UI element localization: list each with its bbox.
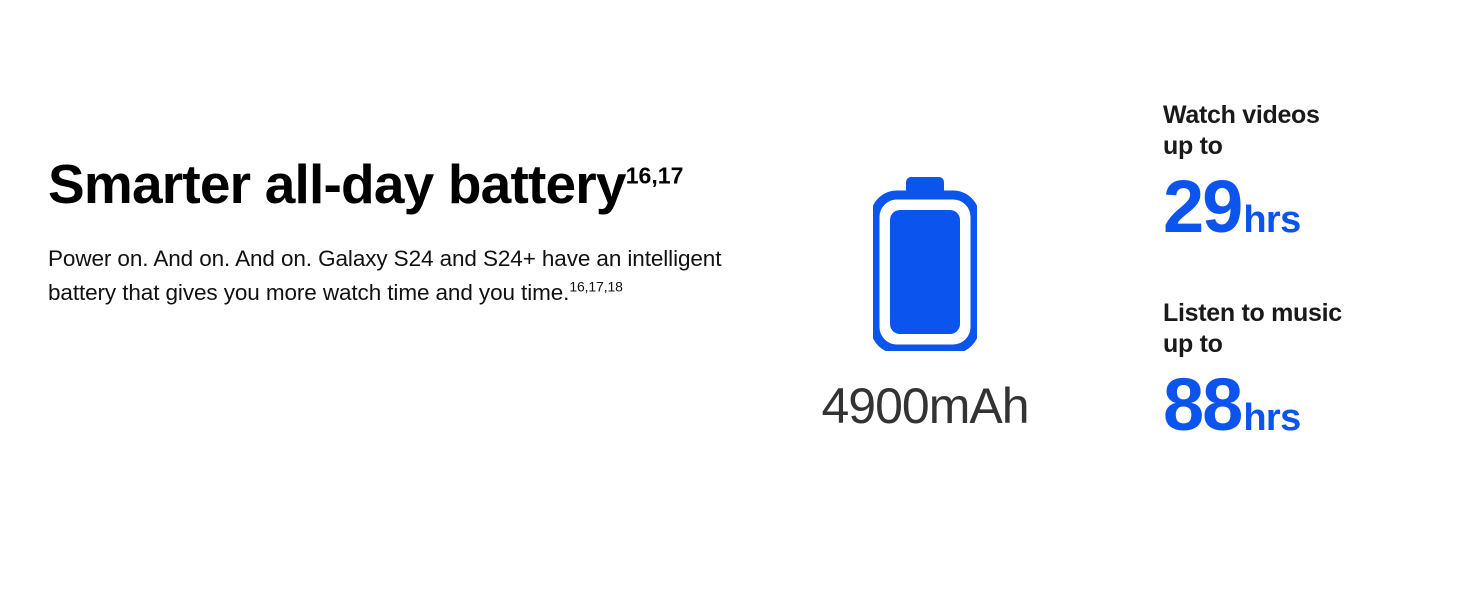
stat-value: 29 hrs [1163, 173, 1443, 241]
stat-unit: hrs [1243, 201, 1300, 239]
body-footnote-marker: 16,17,18 [569, 279, 622, 295]
body-text: Power on. And on. And on. Galaxy S24 and… [48, 246, 721, 305]
stat-label: Listen to music up to [1163, 298, 1443, 359]
page-title: Smarter all-day battery16,17 [48, 152, 748, 216]
stat-number: 29 [1163, 173, 1241, 241]
battery-icon [873, 175, 977, 351]
stat-label: Watch videos up to [1163, 100, 1443, 161]
battery-capacity-value: 4900mAh [821, 381, 1028, 431]
headline-block: Smarter all-day battery16,17 Power on. A… [48, 152, 748, 310]
stat-listen-music: Listen to music up to 88 hrs [1163, 298, 1443, 439]
stat-unit: hrs [1243, 399, 1300, 437]
usage-stats-list: Watch videos up to 29 hrs Listen to musi… [1163, 100, 1443, 439]
headline-footnote-marker: 16,17 [626, 163, 684, 189]
body-description: Power on. And on. And on. Galaxy S24 and… [48, 242, 738, 310]
stat-number: 88 [1163, 371, 1241, 439]
stat-watch-videos: Watch videos up to 29 hrs [1163, 100, 1443, 241]
battery-feature-banner: Smarter all-day battery16,17 Power on. A… [0, 0, 1464, 600]
headline-text: Smarter all-day battery [48, 153, 626, 215]
stat-value: 88 hrs [1163, 371, 1443, 439]
battery-capacity-block: 4900mAh [790, 175, 1060, 431]
